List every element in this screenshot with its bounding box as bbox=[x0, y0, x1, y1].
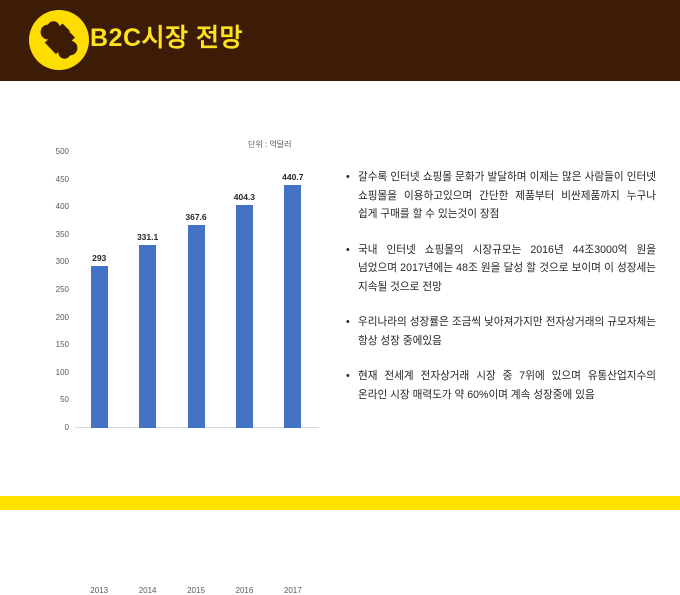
x-axis-tick-label: 2015 bbox=[187, 586, 205, 595]
y-axis-tick-label: 500 bbox=[56, 148, 69, 156]
list-item: •갈수록 인터넷 쇼핑몰 문화가 발달하며 이제는 많은 사람들이 인터넷 쇼핑… bbox=[344, 168, 656, 224]
list-item: •우리나라의 성장률은 조금씩 낮아져가지만 전자상거래의 규모자체는 항상 성… bbox=[344, 313, 656, 350]
chart-plot-area: 0501001502002503003504004505002932013331… bbox=[75, 152, 317, 428]
bar-2013 bbox=[91, 266, 108, 428]
bar-value-label: 367.6 bbox=[185, 212, 206, 222]
bar-value-label: 440.7 bbox=[282, 172, 303, 182]
bullet-list: •갈수록 인터넷 쇼핑몰 문화가 발달하며 이제는 많은 사람들이 인터넷 쇼핑… bbox=[344, 168, 656, 421]
y-axis-tick-label: 450 bbox=[56, 176, 69, 184]
bullet-marker-icon: • bbox=[346, 313, 350, 332]
chart-bar: 440.7 bbox=[284, 152, 301, 428]
bar-2015 bbox=[188, 225, 205, 428]
bullet-text: 우리나라의 성장률은 조금씩 낮아져가지만 전자상거래의 규모자체는 항상 성장… bbox=[358, 316, 656, 347]
y-axis-tick-label: 400 bbox=[56, 203, 69, 211]
y-axis-tick-label: 100 bbox=[56, 369, 69, 377]
x-axis-tick-label: 2013 bbox=[90, 586, 108, 595]
bone-icon bbox=[29, 10, 89, 70]
page-title: B2C시장 전망 bbox=[90, 20, 243, 56]
bar-2017 bbox=[284, 185, 301, 428]
y-axis-tick-label: 300 bbox=[56, 258, 69, 266]
chart-unit-note: 단위 : 억달러 bbox=[248, 139, 291, 150]
bullet-marker-icon: • bbox=[346, 367, 350, 386]
y-axis-tick-label: 150 bbox=[56, 341, 69, 349]
chart-bar: 331.1 bbox=[139, 152, 156, 428]
bullet-text: 갈수록 인터넷 쇼핑몰 문화가 발달하며 이제는 많은 사람들이 인터넷 쇼핑몰… bbox=[358, 171, 656, 220]
y-axis-tick-label: 0 bbox=[65, 424, 69, 432]
bar-value-label: 404.3 bbox=[234, 192, 255, 202]
chart-bar: 293 bbox=[91, 152, 108, 428]
bullet-text: 현재 전세계 전자상거래 시장 중 7위에 있으며 유통산업지수의 온라인 시장… bbox=[358, 370, 656, 401]
bar-2014 bbox=[139, 245, 156, 428]
chart-bar: 367.6 bbox=[188, 152, 205, 428]
bar-2016 bbox=[236, 205, 253, 428]
list-item: •현재 전세계 전자상거래 시장 중 7위에 있으며 유통산업지수의 온라인 시… bbox=[344, 367, 656, 404]
chart-bar: 404.3 bbox=[236, 152, 253, 428]
x-axis-tick-label: 2016 bbox=[235, 586, 253, 595]
bullet-marker-icon: • bbox=[346, 168, 350, 187]
y-axis-tick-label: 250 bbox=[56, 286, 69, 294]
list-item: •국내 인터넷 쇼핑몰의 시장규모는 2016년 44조3000억 원을 넘었으… bbox=[344, 241, 656, 297]
slide: B2C시장 전망 단위 : 억달러 0501001502002503003504… bbox=[0, 0, 680, 510]
x-axis-tick-label: 2014 bbox=[139, 586, 157, 595]
footer-accent-bar bbox=[0, 496, 680, 510]
bullet-marker-icon: • bbox=[346, 241, 350, 260]
bar-value-label: 293 bbox=[92, 253, 106, 263]
x-axis-tick-label: 2017 bbox=[284, 586, 302, 595]
slide-header: B2C시장 전망 bbox=[0, 0, 680, 81]
y-axis-tick-label: 200 bbox=[56, 314, 69, 322]
y-axis-tick-label: 50 bbox=[60, 396, 69, 404]
y-axis-tick-label: 350 bbox=[56, 231, 69, 239]
bar-value-label: 331.1 bbox=[137, 232, 158, 242]
bullet-text: 국내 인터넷 쇼핑몰의 시장규모는 2016년 44조3000억 원을 넘었으며… bbox=[358, 244, 656, 293]
